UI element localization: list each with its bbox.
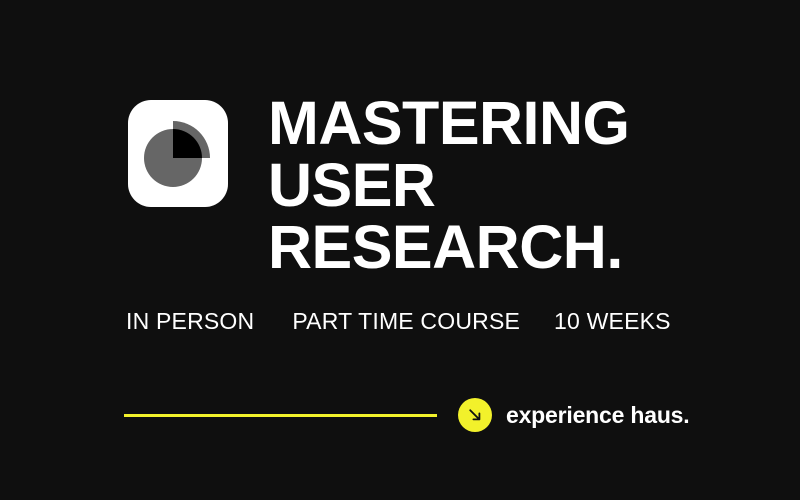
meta-item-duration: 10 WEEKS <box>554 307 671 335</box>
headline-line-3: RESEARCH. <box>268 216 788 278</box>
course-promo-banner: MASTERING USER RESEARCH. IN PERSON PART … <box>0 0 800 500</box>
pie-chart-logo <box>128 100 228 207</box>
accent-divider-rule <box>124 414 437 417</box>
headline-line-2: USER <box>268 154 788 216</box>
meta-item-format: IN PERSON <box>126 307 254 335</box>
headline-line-1: MASTERING <box>268 92 788 154</box>
course-meta-row: IN PERSON PART TIME COURSE 10 WEEKS <box>126 307 671 335</box>
arrow-down-right-icon <box>458 398 492 432</box>
page-title: MASTERING USER RESEARCH. <box>268 92 788 278</box>
footer-brand-lockup: experience haus. <box>124 396 700 434</box>
meta-item-schedule: PART TIME COURSE <box>292 307 520 335</box>
brand-name: experience haus. <box>506 402 689 428</box>
